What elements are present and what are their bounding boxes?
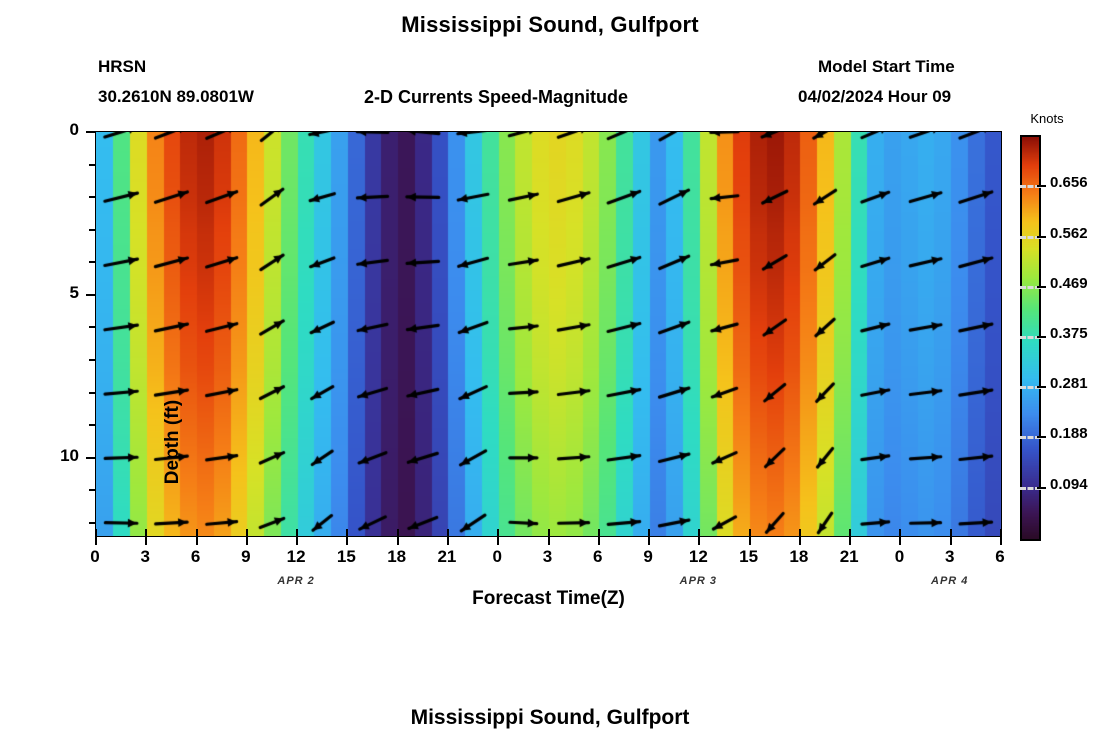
colorbar-tick — [1037, 236, 1046, 238]
x-axis-tick — [1000, 537, 1002, 545]
x-axis-tick-top — [598, 529, 600, 537]
colorbar-title: Knots — [1012, 111, 1082, 126]
x-axis-tick-label: 9 — [226, 547, 266, 567]
x-axis-tick — [899, 537, 901, 545]
x-axis-tick — [145, 537, 147, 545]
y-axis-tick-major — [86, 457, 95, 459]
x-axis-tick-top — [698, 529, 700, 537]
x-axis-tick-label: 3 — [528, 547, 568, 567]
x-axis-tick — [548, 537, 550, 545]
colorbar-tick-label: 0.375 — [1050, 325, 1100, 342]
y-axis-tick-minor — [89, 489, 95, 491]
x-axis-tick-top — [849, 529, 851, 537]
x-axis-tick-label: 6 — [980, 547, 1020, 567]
y-axis-tick-minor — [89, 392, 95, 394]
heatmap-plot-area[interactable] — [95, 131, 1002, 537]
x-axis-title: Forecast Time(Z) — [95, 588, 1002, 610]
x-axis-tick-top — [145, 529, 147, 537]
x-axis-tick-label: 12 — [276, 547, 316, 567]
x-axis-tick-top — [799, 529, 801, 537]
x-axis-day-label: APR 4 — [910, 575, 990, 587]
y-axis-title: Depth (ft) — [162, 352, 184, 532]
x-axis-tick-label: 18 — [779, 547, 819, 567]
x-axis-tick-label: 15 — [729, 547, 769, 567]
y-axis-tick-major — [86, 294, 95, 296]
x-axis-tick — [799, 537, 801, 545]
colorbar-tick-label: 0.188 — [1050, 425, 1100, 442]
x-axis-tick-label: 21 — [829, 547, 869, 567]
x-axis-tick-top — [899, 529, 901, 537]
colorbar-tick-label: 0.656 — [1050, 174, 1100, 191]
x-axis-tick — [397, 537, 399, 545]
x-axis-tick — [296, 537, 298, 545]
x-axis-day-label: APR 2 — [256, 575, 336, 587]
x-axis-tick-label: 6 — [578, 547, 618, 567]
y-axis-tick-label: 0 — [39, 120, 79, 140]
x-axis-tick-label: 9 — [628, 547, 668, 567]
x-axis-tick — [698, 537, 700, 545]
model-start-value: 04/02/2024 Hour 09 — [798, 87, 951, 107]
x-axis-tick-label: 21 — [427, 547, 467, 567]
footer-title: Mississippi Sound, Gulfport — [0, 706, 1100, 730]
colorbar-tick — [1037, 286, 1046, 288]
colorbar-tick-label: 0.094 — [1050, 476, 1100, 493]
y-axis-tick-minor — [89, 424, 95, 426]
x-axis-tick — [346, 537, 348, 545]
x-axis-tick — [447, 537, 449, 545]
station-id-label: HRSN — [98, 57, 146, 77]
colorbar[interactable]: 0.6560.5620.4690.3750.2810.1880.094 — [1020, 135, 1037, 537]
x-axis-tick-top — [447, 529, 449, 537]
x-axis-tick — [849, 537, 851, 545]
y-axis-tick-label: 5 — [39, 283, 79, 303]
colorbar-tick — [1037, 487, 1046, 489]
x-axis-tick — [246, 537, 248, 545]
colorbar-tick-label: 0.562 — [1050, 225, 1100, 242]
y-axis-tick-minor — [89, 229, 95, 231]
x-axis-tick-label: 0 — [75, 547, 115, 567]
x-axis-tick-label: 0 — [879, 547, 919, 567]
x-axis-tick-top — [196, 529, 198, 537]
x-axis-tick-top — [950, 529, 952, 537]
model-start-label: Model Start Time — [818, 57, 955, 77]
chart-subtitle: 2-D Currents Speed-Magnitude — [364, 87, 628, 108]
colorbar-tick — [1037, 185, 1046, 187]
x-axis-tick-top — [296, 529, 298, 537]
x-axis-day-label: APR 3 — [658, 575, 738, 587]
y-axis-tick-minor — [89, 261, 95, 263]
x-axis-tick — [598, 537, 600, 545]
colorbar-tick — [1037, 386, 1046, 388]
x-axis-tick-top — [246, 529, 248, 537]
y-axis-tick-minor — [89, 359, 95, 361]
station-coordinates: 30.2610N 89.0801W — [98, 87, 254, 107]
y-axis-tick-major — [86, 131, 95, 133]
x-axis-tick — [196, 537, 198, 545]
x-axis-tick — [950, 537, 952, 545]
y-axis-tick-minor — [89, 522, 95, 524]
x-axis-tick-label: 0 — [477, 547, 517, 567]
x-axis-tick-label: 3 — [125, 547, 165, 567]
x-axis-tick — [648, 537, 650, 545]
current-vector-arrows — [96, 132, 1001, 536]
y-axis-tick-minor — [89, 196, 95, 198]
x-axis-tick — [749, 537, 751, 545]
colorbar-tick — [1037, 436, 1046, 438]
y-axis-tick-minor — [89, 164, 95, 166]
x-axis-tick-label: 15 — [326, 547, 366, 567]
y-axis-tick-minor — [89, 326, 95, 328]
x-axis-tick-top — [749, 529, 751, 537]
x-axis-tick-top — [548, 529, 550, 537]
y-axis-tick-label: 10 — [39, 446, 79, 466]
x-axis-tick-label: 3 — [930, 547, 970, 567]
x-axis-tick-top — [1000, 529, 1002, 537]
x-axis-tick-top — [648, 529, 650, 537]
x-axis-tick — [95, 537, 97, 545]
colorbar-tick-label: 0.469 — [1050, 275, 1100, 292]
x-axis-tick-label: 18 — [377, 547, 417, 567]
colorbar-tick — [1037, 336, 1046, 338]
page-title: Mississippi Sound, Gulfport — [0, 12, 1100, 38]
x-axis-tick-label: 12 — [678, 547, 718, 567]
colorbar-tick-label: 0.281 — [1050, 375, 1100, 392]
x-axis-tick-top — [346, 529, 348, 537]
x-axis-tick-label: 6 — [176, 547, 216, 567]
x-axis-tick — [497, 537, 499, 545]
x-axis-tick-top — [397, 529, 399, 537]
x-axis-tick-top — [497, 529, 499, 537]
x-axis-tick-top — [95, 529, 97, 537]
